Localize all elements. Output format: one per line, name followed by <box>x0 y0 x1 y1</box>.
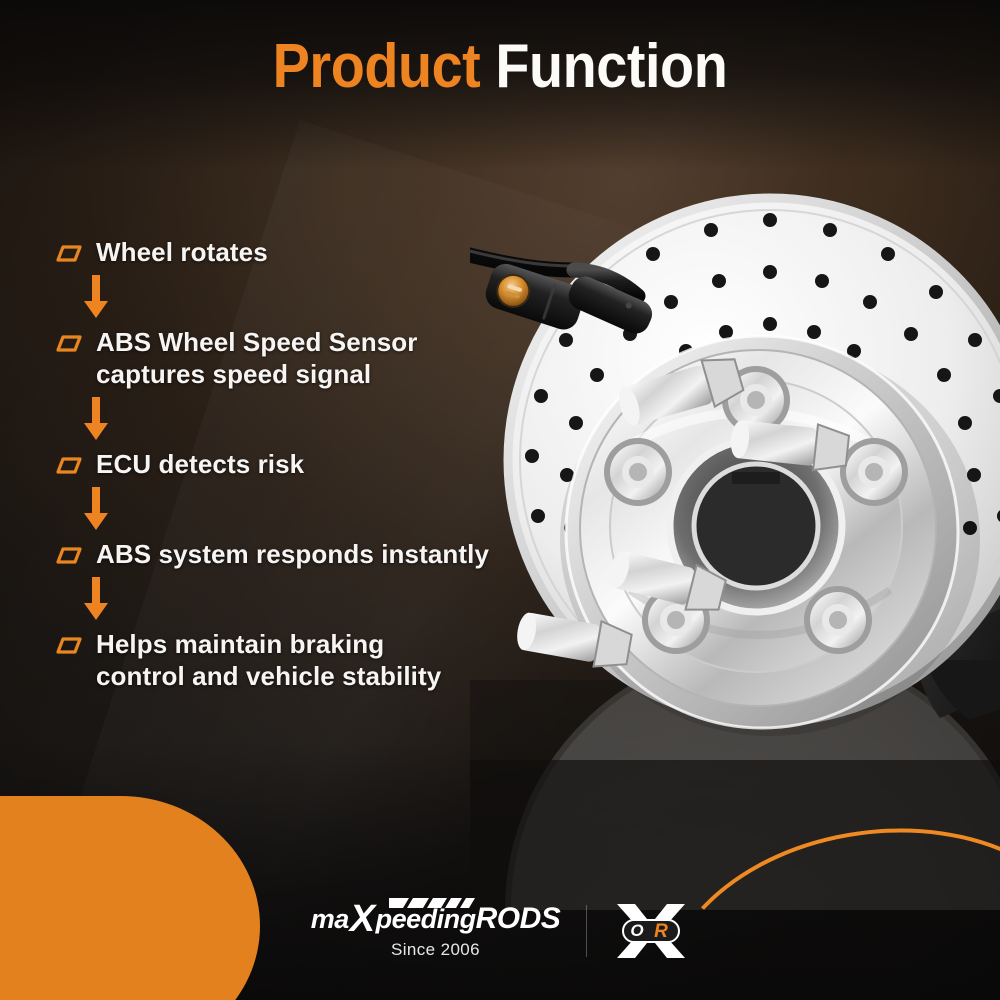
footer-divider <box>586 905 587 957</box>
speed-streaks-icon <box>389 896 479 910</box>
xor-letter-o: O <box>631 921 644 940</box>
process-step: ABS Wheel Speed Sensor captures speed si… <box>56 326 526 390</box>
arrow-down-icon <box>56 570 526 628</box>
process-step-label: ECU detects risk <box>96 448 304 480</box>
parallelogram-bullet-icon <box>56 547 82 564</box>
process-step-label: ABS system responds instantly <box>96 538 489 570</box>
process-step: Wheel rotates <box>56 236 526 268</box>
process-step-label: Helps maintain braking control and vehic… <box>96 628 441 692</box>
xor-logo: O R <box>613 902 689 960</box>
footer-branding: ma X peeding RODS Sinc <box>0 902 1000 960</box>
process-step-list: Wheel rotates ABS Wheel Speed Sensor cap… <box>56 236 526 692</box>
page-title-main: Function <box>495 32 727 101</box>
brand-tagline: Since 2006 <box>391 940 480 960</box>
brand-text-x: X <box>350 904 375 934</box>
process-step: ABS system responds instantly <box>56 538 526 570</box>
parallelogram-bullet-icon <box>56 245 82 262</box>
page-title-accent: Product <box>273 32 481 101</box>
process-step-label: ABS Wheel Speed Sensor captures speed si… <box>96 326 418 390</box>
xor-letter-r: R <box>654 921 668 942</box>
process-step: ECU detects risk <box>56 448 526 480</box>
poster-canvas: Product Function Wheel rotates ABS Wheel… <box>0 0 1000 1000</box>
arrow-down-icon <box>56 480 526 538</box>
arrow-down-icon <box>56 390 526 448</box>
brand-text-ma: ma <box>311 904 349 934</box>
parallelogram-bullet-icon <box>56 335 82 352</box>
process-step: Helps maintain braking control and vehic… <box>56 628 526 692</box>
parallelogram-bullet-icon <box>56 637 82 654</box>
arrow-down-icon <box>56 268 526 326</box>
maxpeedingrods-logo: ma X peeding RODS Sinc <box>311 902 561 960</box>
process-step-label: Wheel rotates <box>96 236 268 268</box>
parallelogram-bullet-icon <box>56 457 82 474</box>
product-image <box>470 120 1000 910</box>
page-title: Product Function <box>50 30 950 104</box>
brand-text-rods: RODS <box>476 904 561 934</box>
